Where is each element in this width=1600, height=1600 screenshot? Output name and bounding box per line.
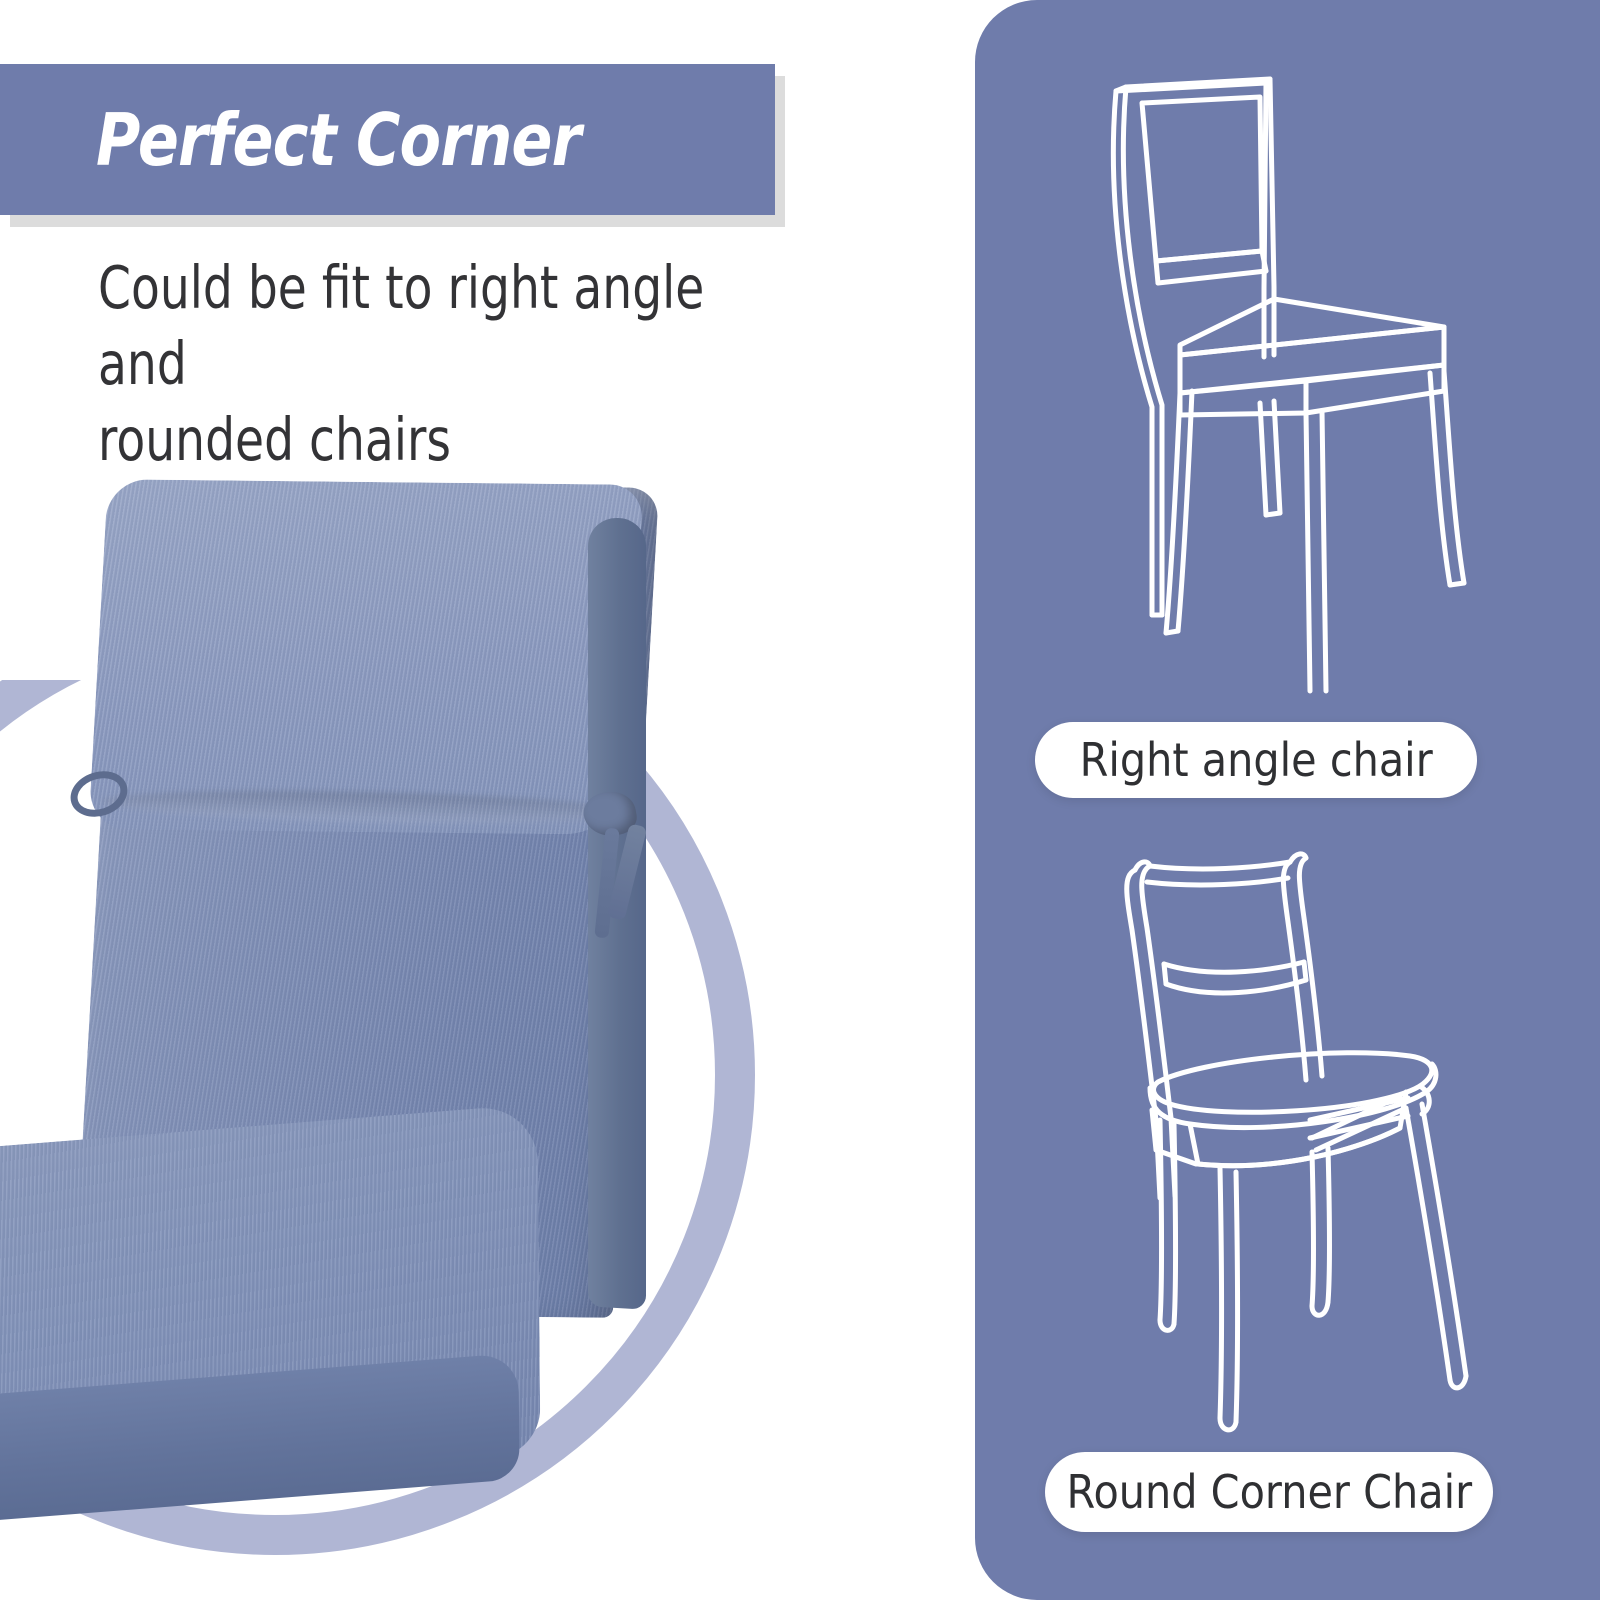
title-banner: Perfect Corner (0, 64, 775, 215)
round-corner-chair-illustration (1040, 820, 1560, 1440)
label-right-angle-chair: Right angle chair (1035, 722, 1477, 798)
label-right-angle-chair-text: Right angle chair (1079, 733, 1432, 787)
cushion-backrest-upper (88, 479, 643, 835)
page-title: Perfect Corner (96, 104, 581, 176)
label-round-corner-chair-text: Round Corner Chair (1066, 1465, 1472, 1519)
right-angle-chair-illustration (1030, 55, 1560, 695)
product-cushion-image (0, 440, 700, 1560)
label-round-corner-chair: Round Corner Chair (1045, 1452, 1493, 1532)
infographic-canvas: Perfect Corner Could be fit to right ang… (0, 0, 1600, 1600)
